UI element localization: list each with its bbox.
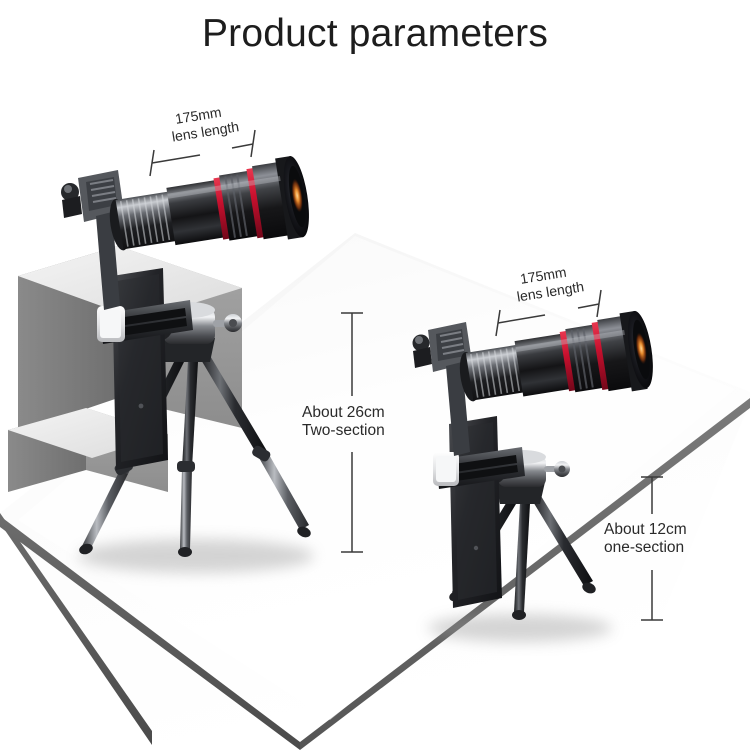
phone-camera-dot xyxy=(139,404,144,409)
phone-camera-dot xyxy=(474,546,478,550)
product-scene xyxy=(0,0,750,750)
lens-grip xyxy=(116,191,177,249)
left-shadow xyxy=(78,539,314,573)
left-smartphone xyxy=(112,268,168,470)
